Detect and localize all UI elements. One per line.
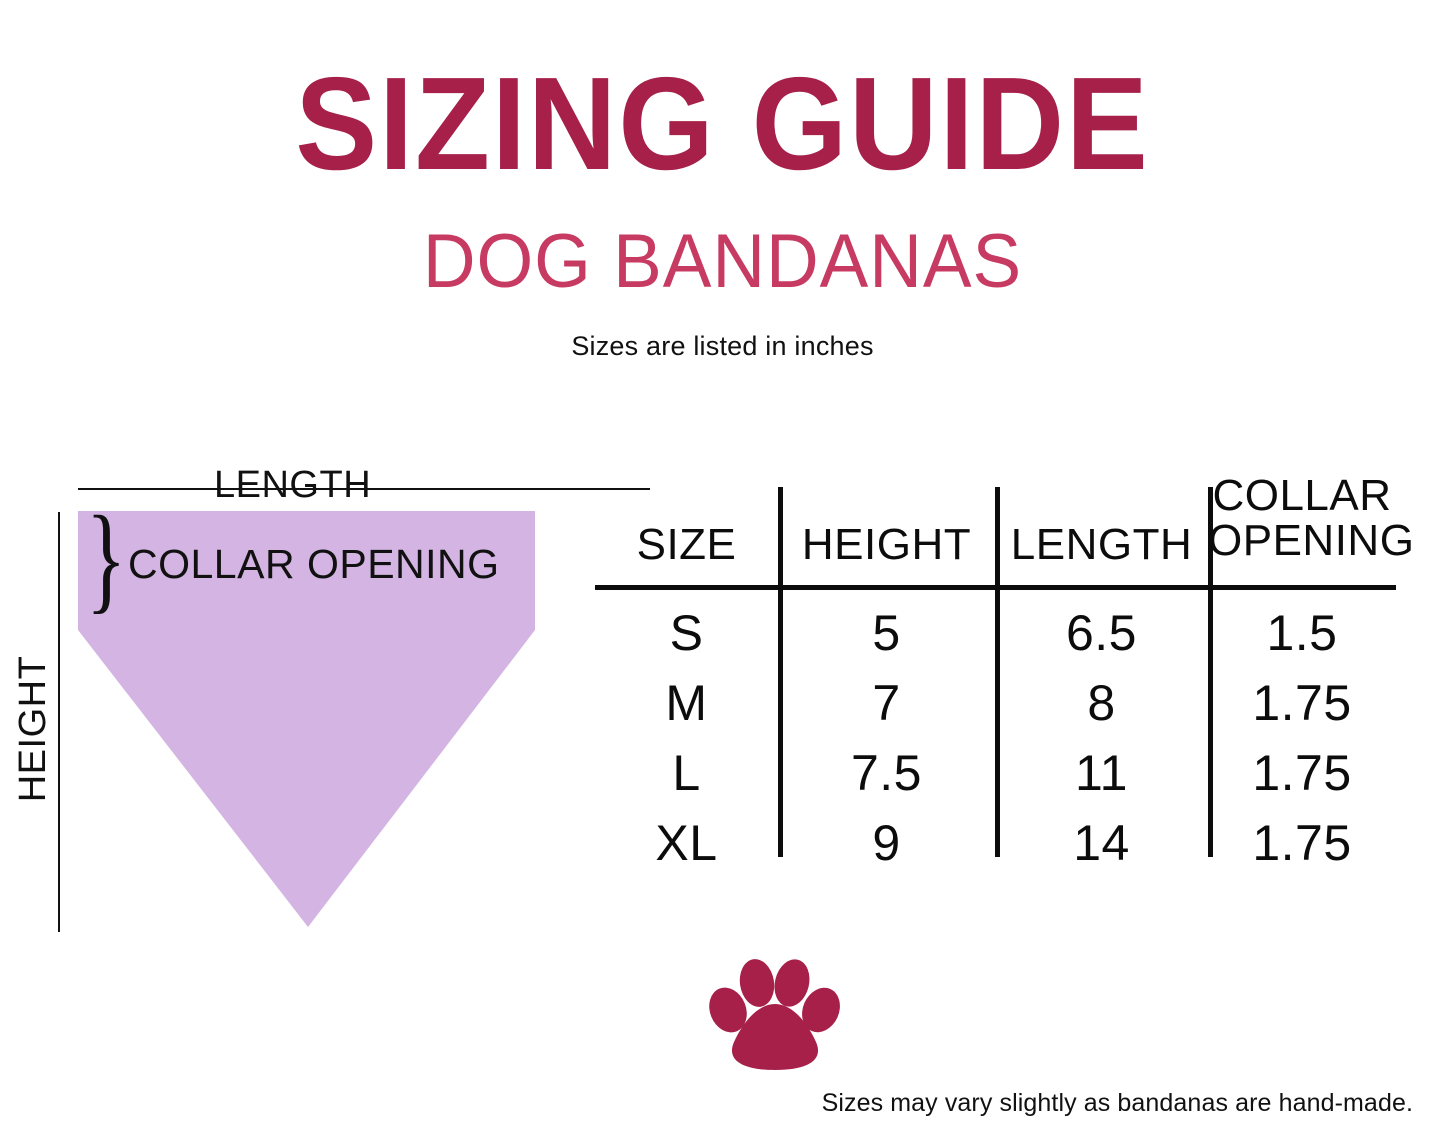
collar-brace-icon: }	[86, 498, 126, 618]
disclaimer-text: Sizes may vary slightly as bandanas are …	[822, 1089, 1413, 1118]
table-row: 1.5	[1208, 608, 1396, 658]
size-table: SIZE HEIGHT LENGTH COLLAR OPENING S 5 6.…	[595, 470, 1400, 870]
paw-print-icon	[700, 952, 850, 1072]
sizing-guide-page: SIZING GUIDE DOG BANDANAS Sizes are list…	[0, 0, 1445, 1132]
table-row: 6.5	[995, 608, 1208, 658]
table-row: 14	[995, 818, 1208, 868]
table-row: S	[595, 608, 778, 658]
table-row: 1.75	[1208, 678, 1396, 728]
table-row: 9	[778, 818, 995, 868]
table-row: 1.75	[1208, 818, 1396, 868]
collar-opening-label: COLLAR OPENING	[128, 544, 500, 585]
column-header-collar-opening: COLLAR OPENING	[1208, 474, 1396, 564]
column-header-height: HEIGHT	[778, 523, 995, 568]
table-row: 1.75	[1208, 748, 1396, 798]
column-header-length: LENGTH	[995, 523, 1208, 568]
column-header-collar-line1: COLLAR	[1208, 474, 1396, 519]
table-row: 7.5	[778, 748, 995, 798]
table-row: 5	[778, 608, 995, 658]
units-note: Sizes are listed in inches	[0, 331, 1445, 362]
page-title: SIZING GUIDE	[51, 58, 1395, 190]
bandana-diagram: LENGTH HEIGHT } COLLAR OPENING	[0, 440, 600, 960]
table-row: XL	[595, 818, 778, 868]
table-row: 7	[778, 678, 995, 728]
table-row: 11	[995, 748, 1208, 798]
table-row: L	[595, 748, 778, 798]
column-header-size: SIZE	[595, 523, 778, 568]
page-subtitle: DOG BANDANAS	[29, 224, 1416, 300]
column-header-collar-line2: OPENING	[1208, 519, 1396, 564]
table-row: 8	[995, 678, 1208, 728]
table-row: M	[595, 678, 778, 728]
